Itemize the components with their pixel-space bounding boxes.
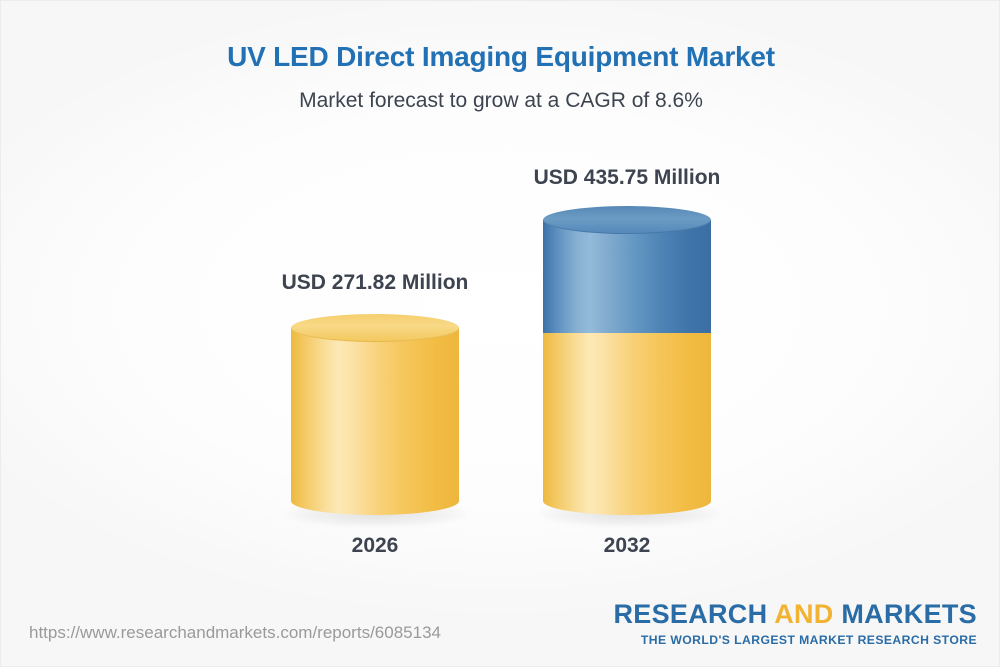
chart-canvas: UV LED Direct Imaging Equipment Market M… bbox=[0, 0, 1000, 667]
logo-word-markets: MARKETS bbox=[834, 599, 977, 629]
research-and-markets-logo: RESEARCH AND MARKETS THE WORLD'S LARGEST… bbox=[613, 601, 977, 646]
value-label-2026: USD 271.82 Million bbox=[205, 271, 545, 295]
bar-body-base-2032 bbox=[543, 333, 711, 515]
value-label-2032: USD 435.75 Million bbox=[457, 166, 797, 190]
source-url[interactable]: https://www.researchandmarkets.com/repor… bbox=[29, 623, 441, 643]
logo-word-research: RESEARCH bbox=[613, 599, 774, 629]
bar-body-growth-2032 bbox=[543, 220, 711, 333]
chart-plot-area: USD 271.82 Million 2026 USD 435.75 Milli… bbox=[1, 1, 1000, 667]
bar-top-ellipse-2026 bbox=[291, 314, 459, 342]
logo-tagline: THE WORLD'S LARGEST MARKET RESEARCH STOR… bbox=[613, 634, 977, 646]
bar-top-ellipse-2032 bbox=[543, 206, 711, 234]
category-label-2032: 2032 bbox=[457, 534, 797, 558]
logo-word-and: AND bbox=[774, 599, 833, 629]
bar-body-2026 bbox=[291, 328, 459, 515]
logo-wordmark: RESEARCH AND MARKETS bbox=[613, 601, 977, 628]
